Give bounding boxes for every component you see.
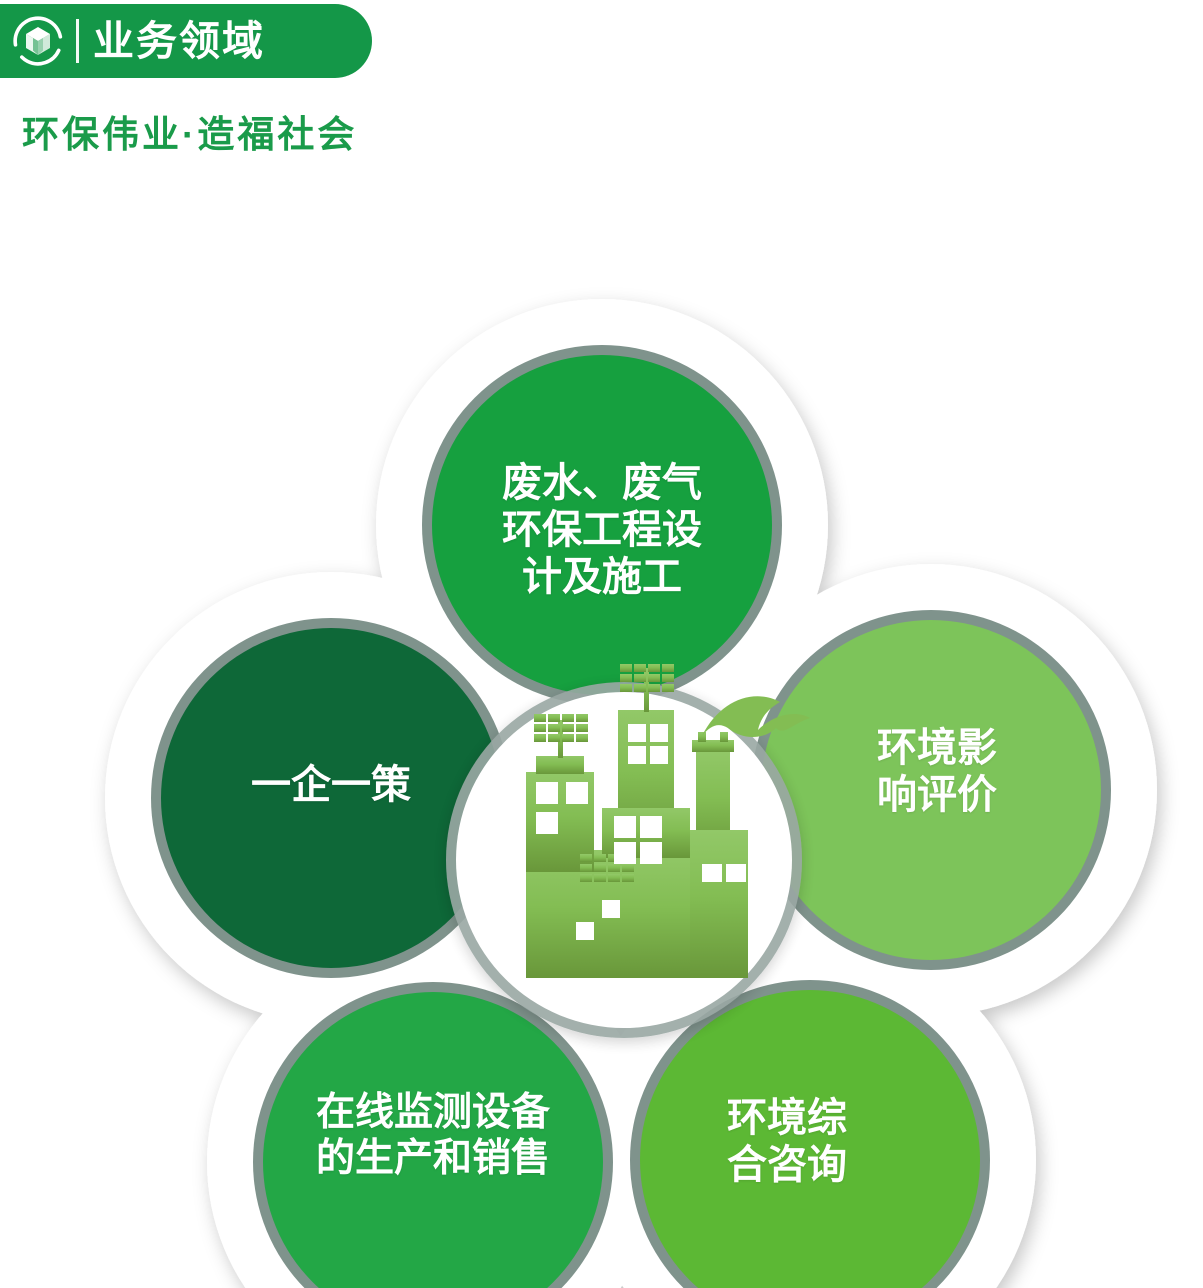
petal-wastewater-engineering[interactable]	[422, 345, 782, 705]
petal-one-enterprise-one-policy[interactable]	[151, 618, 511, 978]
logo-divider	[76, 19, 79, 63]
cube-in-ring-icon	[12, 15, 64, 67]
header-pill: 业务领域	[0, 4, 372, 78]
subtitle-slogan: 环保伟业·造福社会	[22, 104, 357, 158]
business-areas-diagram: 废水、废气 环保工程设 计及施工 环境影 响评价 环境综 合咨询 在线监测设备 …	[0, 160, 1203, 1288]
page-title: 业务领域	[93, 21, 265, 62]
petal-environmental-impact[interactable]	[751, 610, 1111, 970]
